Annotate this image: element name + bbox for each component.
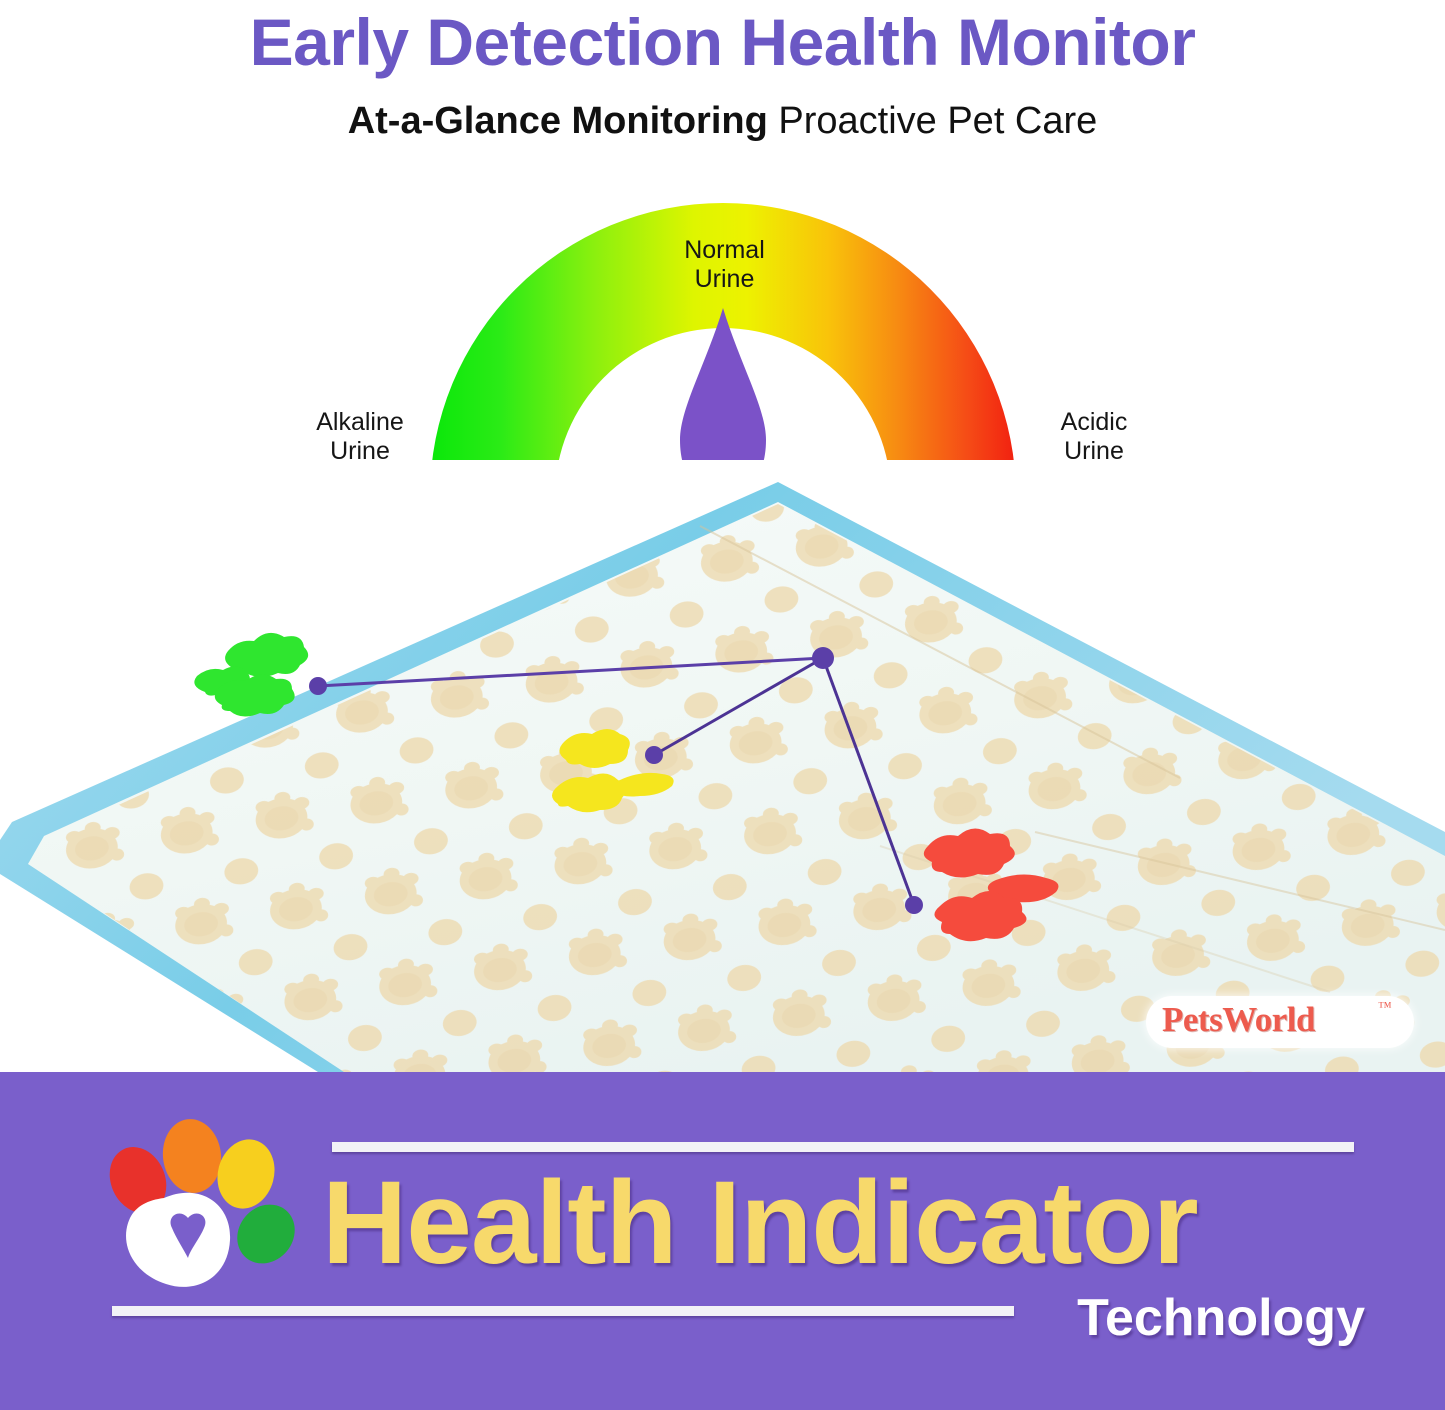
- paw-print-pattern: [30, 504, 1445, 1072]
- gauge-label-acidic: Acidic Urine: [1014, 408, 1174, 466]
- connector-hub-node: [812, 647, 834, 669]
- training-pad-graphic: [0, 460, 1445, 1072]
- page-subtitle: At-a-Glance Monitoring Proactive Pet Car…: [0, 100, 1445, 143]
- brand-logo-plate: PetsWorld ™: [1146, 996, 1414, 1048]
- paw-heart-logo-icon: [104, 1112, 304, 1302]
- page-title: Early Detection Health Monitor: [0, 4, 1445, 80]
- marker-node-normal: [645, 746, 663, 764]
- banner-rule-top: [332, 1142, 1354, 1152]
- marker-node-acidic: [905, 896, 923, 914]
- gauge-label-alkaline: Alkaline Urine: [280, 408, 440, 466]
- gauge-label-normal: Normal Urine: [642, 236, 807, 294]
- banner-headline: Health Indicator: [322, 1155, 1422, 1291]
- subtitle-bold-part: At-a-Glance Monitoring: [348, 100, 768, 142]
- brand-name: PetsWorld: [1162, 1000, 1315, 1040]
- pad-photo: PetsWorld ™: [0, 460, 1445, 1072]
- infographic-root: Early Detection Health Monitor At-a-Glan…: [0, 0, 1445, 1410]
- marker-node-alkaline: [309, 677, 327, 695]
- header: Early Detection Health Monitor At-a-Glan…: [0, 0, 1445, 180]
- toe-orange-icon: [159, 1116, 226, 1197]
- toe-yellow-icon: [210, 1133, 282, 1215]
- subtitle-normal-part: Proactive Pet Care: [778, 100, 1097, 142]
- trademark-symbol: ™: [1378, 1000, 1392, 1016]
- banner-sub-headline: Technology: [0, 1288, 1365, 1348]
